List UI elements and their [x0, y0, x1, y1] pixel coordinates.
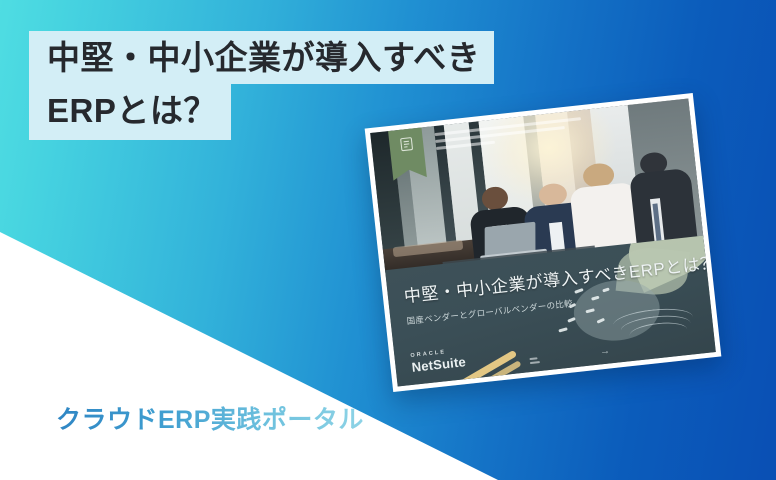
- portal-brand-label: クラウドERP実践ポータル: [56, 400, 364, 436]
- ebook-frame: → 中堅・中小企業が導入すべきERPとは？ 国産ベンダーとグローバルベンダーの比…: [365, 93, 722, 392]
- arrow-icon: →: [599, 345, 610, 357]
- hero-banner: 中堅・中小企業が導入すべき ERPとは？ クラウドERP実践ポータル: [0, 0, 776, 480]
- headline-line-1: 中堅・中小企業が導入すべき: [29, 31, 494, 84]
- netsuite-logo: ORACLE NetSuite: [410, 348, 466, 374]
- ebook-page: → 中堅・中小企業が導入すべきERPとは？ 国産ベンダーとグローバルベンダーの比…: [370, 98, 716, 386]
- ebook-cover-mockup: → 中堅・中小企業が導入すべきERPとは？ 国産ベンダーとグローバルベンダーの比…: [365, 93, 722, 392]
- headline-line-2: ERPとは？: [29, 84, 231, 140]
